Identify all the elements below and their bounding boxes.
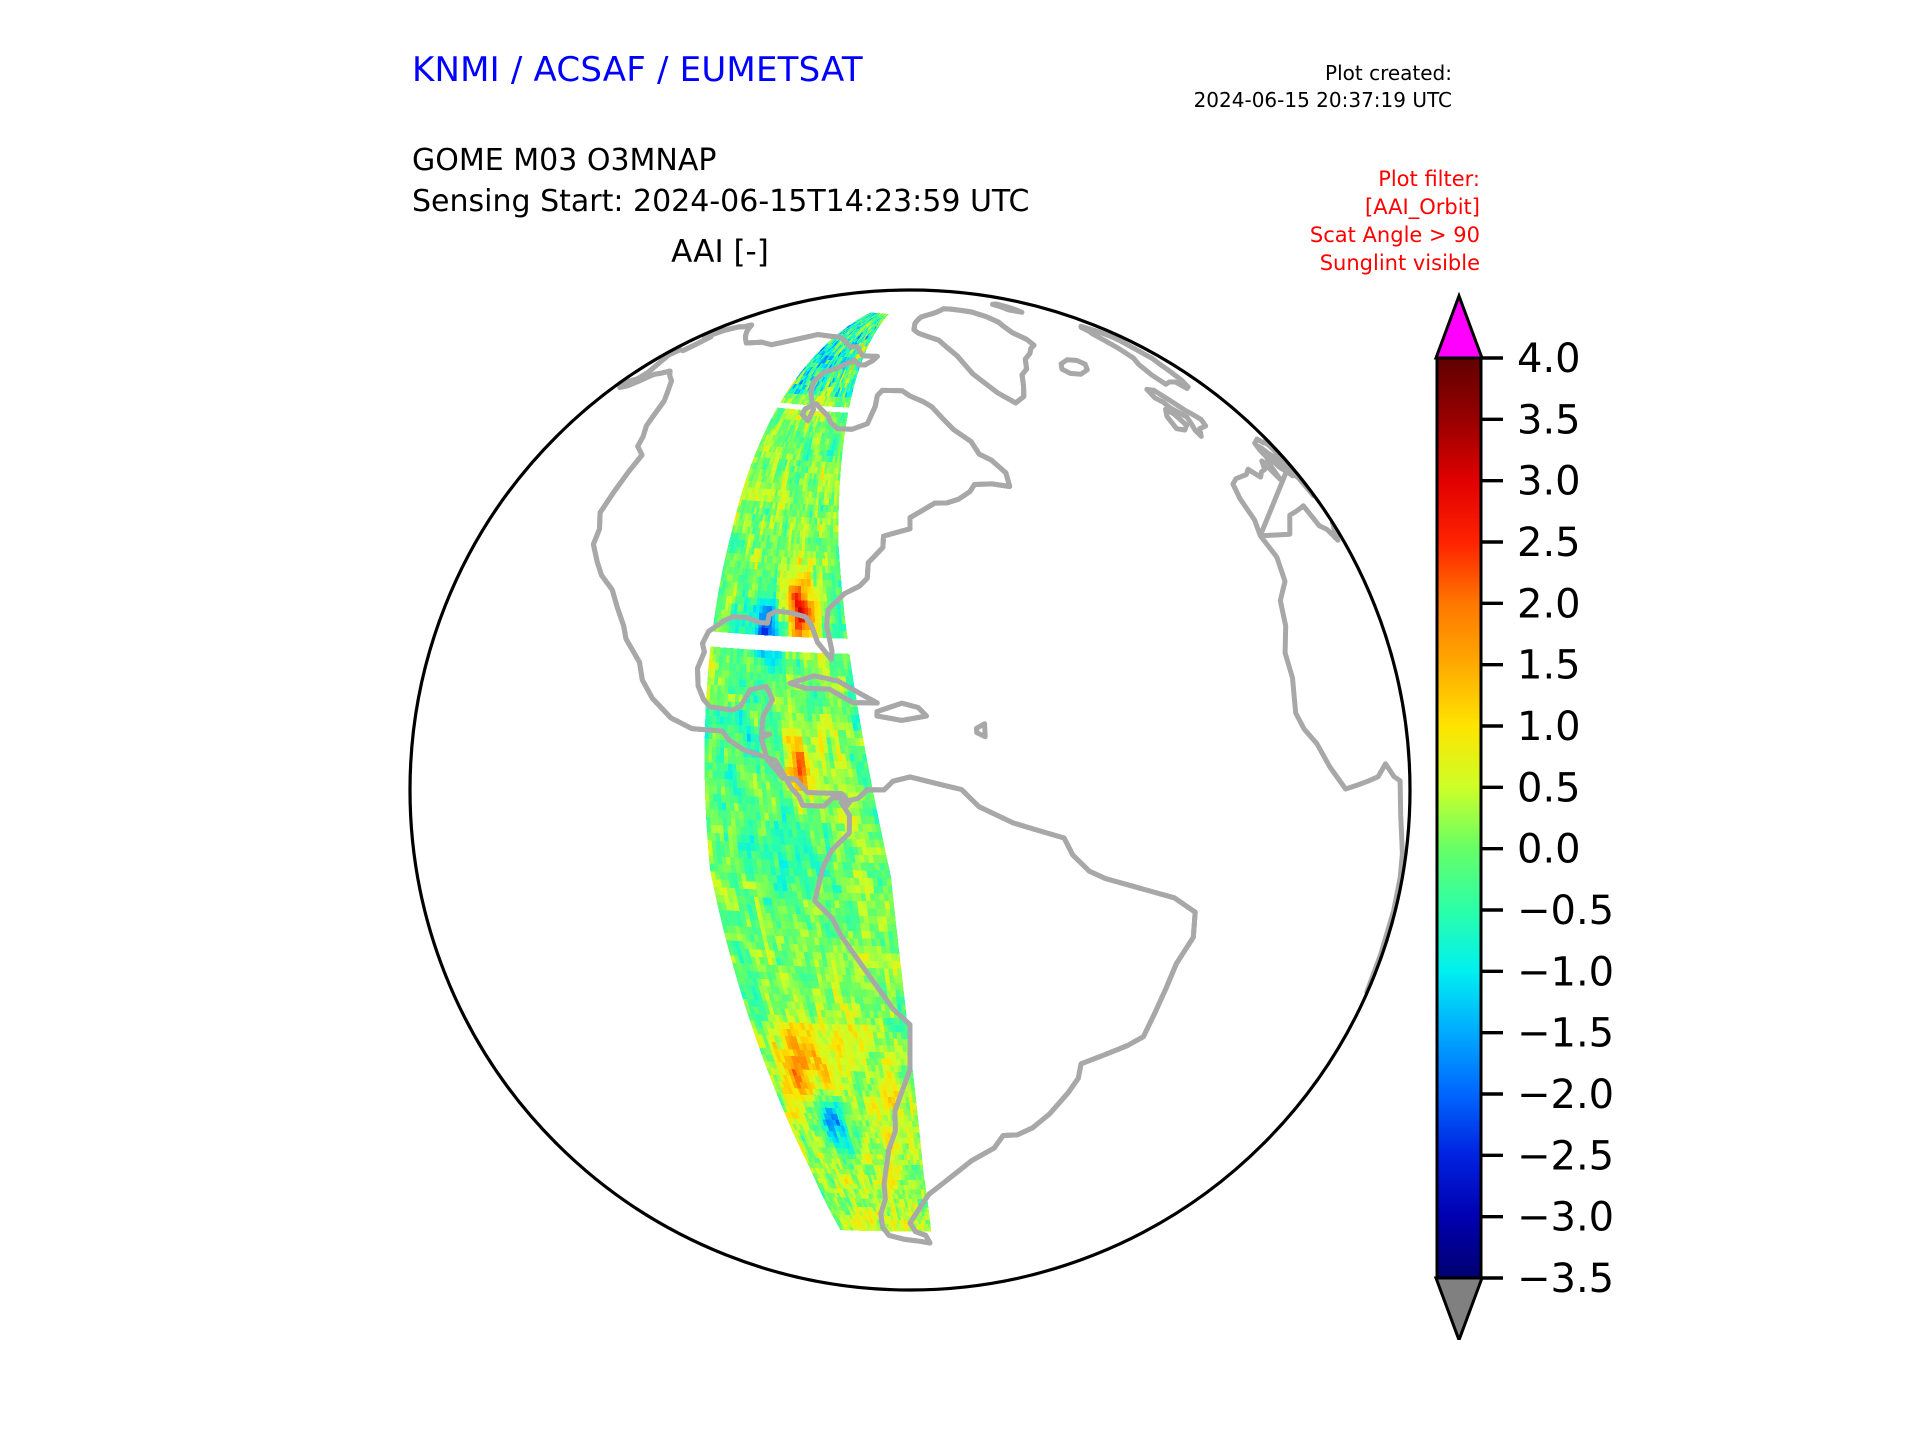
swath-pixel: [729, 779, 734, 787]
swath-pixel: [705, 801, 710, 809]
swath-pixel: [830, 538, 833, 545]
swath-pixel: [757, 828, 762, 836]
swath-pixel: [746, 710, 750, 718]
swath-pixel: [738, 626, 742, 634]
swath-pixel: [764, 666, 768, 674]
swath-pixel: [712, 654, 716, 662]
swath-pixel: [768, 673, 772, 681]
swath-pixel: [738, 803, 743, 811]
swath-pixel: [804, 713, 809, 721]
swath-pixel: [715, 825, 720, 833]
swath-pixel: [805, 721, 810, 729]
swath-pixel: [791, 744, 796, 752]
swath-pixel: [873, 886, 879, 894]
swath-pixel: [750, 789, 755, 797]
swath-pixel: [819, 631, 823, 639]
swath-pixel: [835, 573, 839, 580]
swath-pixel: [789, 721, 794, 729]
swath-pixel: [762, 613, 766, 621]
swath-pixel: [817, 525, 820, 532]
swath-pixel: [826, 505, 829, 512]
swath-pixel: [893, 932, 898, 939]
swath-pixel: [774, 735, 779, 743]
swath-pixel: [750, 657, 754, 665]
swath-pixel: [735, 819, 740, 827]
swath-pixel: [770, 584, 774, 591]
swath-pixel: [720, 755, 724, 763]
swath-pixel: [707, 832, 712, 840]
swath-pixel: [717, 849, 722, 857]
swath-pixel: [706, 692, 710, 700]
swath-pixel: [778, 728, 783, 736]
swath-pixel: [753, 781, 758, 789]
swath-pixel: [786, 728, 791, 736]
swath-pixel: [832, 580, 836, 587]
swath-pixel: [742, 843, 747, 851]
swath-pixel: [778, 629, 781, 637]
swath-pixel: [772, 621, 776, 629]
swath-pixel: [822, 531, 825, 538]
swath-pixel: [751, 812, 756, 820]
swath-pixel: [776, 697, 780, 705]
swath-pixel: [778, 564, 782, 571]
swath-pixel: [721, 849, 726, 857]
swath-pixel: [726, 663, 730, 671]
swath-pixel: [831, 499, 834, 506]
swath-pixel: [737, 842, 742, 850]
swath-pixel: [732, 671, 736, 679]
swath-pixel: [721, 794, 726, 802]
swath-pixel: [718, 818, 723, 826]
swath-pixel: [875, 901, 881, 909]
swath-pixel: [798, 558, 801, 565]
swath-pixel: [810, 653, 814, 661]
swath-pixel: [770, 782, 775, 790]
swath-pixel: [819, 545, 822, 552]
swath-pixel: [798, 572, 801, 579]
swath-pixel: [761, 673, 765, 681]
swath-pixel: [735, 687, 739, 695]
swath-pixel: [822, 538, 825, 545]
swath-pixel: [833, 525, 836, 532]
swath-pixel: [743, 710, 747, 718]
swath-pixel: [724, 763, 728, 771]
swath-pixel: [869, 886, 875, 894]
swath-pixel: [798, 593, 801, 600]
swath-pixel: [807, 706, 812, 714]
swath-pixel: [740, 772, 745, 780]
swath-pixel: [750, 726, 754, 734]
swath-pixel: [755, 734, 759, 742]
swath-pixel: [802, 630, 806, 638]
swath-pixel: [807, 660, 811, 668]
swath-pixel: [880, 901, 885, 909]
swath-pixel: [830, 545, 833, 552]
swath-pixel: [744, 773, 749, 781]
swath-pixel: [709, 801, 714, 809]
swath-pixel: [813, 691, 818, 699]
swath-pixel: [902, 1046, 907, 1053]
swath-pixel: [789, 578, 792, 585]
swath-pixel: [740, 649, 744, 657]
swath-pixel: [783, 751, 788, 759]
swath-pixel: [807, 572, 810, 579]
swath-pixel: [779, 790, 784, 798]
swath-pixel: [772, 628, 776, 636]
swath-pixel: [728, 725, 732, 733]
swath-pixel: [752, 757, 756, 765]
swath-pixel: [724, 771, 728, 779]
swath-pixel: [833, 474, 836, 480]
swath-pixel: [766, 789, 771, 797]
swath-pixel: [739, 733, 743, 741]
swath-pixel: [823, 587, 827, 594]
swath-pixel: [768, 651, 772, 659]
swath-pixel: [774, 570, 778, 577]
swath-pixel: [716, 647, 720, 655]
swath-pixel: [746, 672, 750, 680]
swath-pixel: [747, 742, 751, 750]
swath-pixel: [803, 660, 807, 668]
swath-pixel: [825, 573, 828, 580]
swath-pixel: [765, 577, 769, 584]
swath-pixel: [889, 976, 894, 983]
swath-pixel: [833, 539, 836, 546]
swath-pixel: [811, 524, 814, 531]
swath-pixel: [785, 592, 788, 599]
swath-pixel: [757, 703, 761, 711]
swath-pixel: [813, 545, 816, 552]
swath-pixel: [747, 804, 752, 812]
swath-pixel: [776, 689, 780, 697]
swath-pixel: [801, 558, 804, 565]
swath-pixel: [782, 666, 786, 674]
swath-pixel: [774, 728, 778, 736]
swath-pixel: [743, 679, 747, 687]
swath-pixel: [829, 580, 833, 587]
swath-pixel: [827, 545, 830, 552]
swath-pixel: [816, 580, 819, 587]
swath-pixel: [791, 690, 795, 698]
swath-pixel: [787, 697, 791, 705]
swath-pixel: [822, 525, 825, 532]
swath-pixel: [804, 572, 807, 579]
swath-pixel: [743, 734, 747, 742]
swath-pixel: [742, 796, 747, 804]
swath-pixel: [788, 713, 792, 721]
swath-pixel: [769, 712, 773, 720]
swath-pixel: [729, 849, 734, 857]
swath-pixel: [885, 946, 890, 953]
swath-pixel: [891, 954, 896, 961]
swath-pixel: [736, 671, 740, 679]
swath-pixel: [819, 525, 822, 532]
swath-pixel: [716, 771, 720, 779]
swath-pixel: [877, 878, 883, 886]
swath-pixel: [777, 578, 780, 585]
swath-pixel: [803, 652, 807, 660]
swath-pixel: [778, 614, 781, 622]
swath-pixel: [825, 532, 828, 539]
swath-pixel: [767, 836, 772, 844]
plot-created-value: 2024-06-15 20:37:19 UTC: [1032, 87, 1452, 114]
swath-pixel: [810, 572, 813, 579]
swath-pixel: [817, 518, 820, 525]
swath-pixel: [779, 592, 782, 599]
swath-pixel: [879, 894, 884, 902]
swath-pixel: [799, 551, 802, 558]
swath-pixel: [756, 820, 761, 828]
swath-pixel: [705, 715, 709, 723]
swath-pixel: [781, 712, 785, 720]
swath-pixel: [754, 665, 758, 673]
swath-pixel: [808, 601, 812, 609]
swath-pixel: [723, 818, 728, 826]
swath-pixel: [885, 909, 891, 917]
swath-pixel: [806, 698, 811, 706]
swath-pixel: [773, 592, 777, 599]
swath-pixel: [714, 685, 718, 693]
swath-pixel: [754, 703, 758, 711]
globe-map: [380, 260, 1440, 1320]
swath-pixel: [755, 627, 759, 635]
swath-pixel: [896, 961, 901, 968]
swath-pixel: [789, 659, 793, 667]
swath-pixel: [817, 594, 821, 601]
swath-pixel: [706, 817, 711, 825]
swath-pixel: [886, 954, 891, 961]
swath-pixel: [770, 592, 774, 599]
swath-pixel: [764, 584, 768, 591]
swath-pixel: [708, 747, 712, 755]
swath-pixel: [728, 764, 732, 772]
swath-pixel: [799, 544, 802, 551]
swath-pixel: [766, 599, 770, 606]
swath-pixel: [779, 674, 783, 682]
swath-pixel: [725, 787, 730, 795]
swath-pixel: [786, 578, 789, 585]
swath-pixel: [712, 662, 716, 670]
swath-pixel: [775, 614, 778, 622]
swath-pixel: [783, 744, 788, 752]
swath-pixel: [807, 586, 810, 593]
swath-pixel: [725, 678, 729, 686]
swath-pixel: [748, 820, 753, 828]
swath-pixel: [764, 766, 769, 774]
swath-pixel: [892, 961, 897, 968]
swath-pixel: [808, 668, 812, 676]
swath-pixel: [709, 794, 713, 802]
swath-pixel: [714, 817, 719, 825]
swath-pixel: [767, 797, 772, 805]
swath-pixel: [744, 765, 749, 773]
swath-pixel: [728, 717, 732, 725]
swath-pixel: [711, 825, 716, 833]
swath-pixel: [789, 728, 794, 736]
swath-pixel: [716, 655, 720, 663]
swath-pixel: [724, 841, 729, 849]
swath-pixel: [715, 662, 719, 670]
swath-pixel: [793, 557, 796, 564]
swath-pixel: [753, 773, 758, 781]
swath-pixel: [752, 765, 757, 773]
swath-pixel: [780, 697, 784, 705]
swath-pixel: [792, 578, 795, 585]
swath-pixel: [796, 558, 799, 565]
swath-pixel: [837, 566, 841, 573]
swath-pixel: [782, 674, 786, 682]
swath-pixel: [750, 711, 754, 719]
swath-pixel: [750, 695, 754, 703]
swath-pixel: [747, 649, 751, 657]
swath-pixel: [739, 679, 743, 687]
swath-pixel: [797, 721, 802, 729]
swath-pixel: [810, 544, 813, 551]
swath-pixel: [750, 796, 755, 804]
swath-pixel: [806, 524, 809, 531]
swath-pixel: [795, 744, 800, 752]
swath-pixel: [755, 851, 760, 859]
swath-pixel: [767, 584, 771, 591]
swath-pixel: [836, 545, 839, 552]
swath-pixel: [833, 512, 836, 519]
sensing-start: Sensing Start: 2024-06-15T14:23:59 UTC: [412, 181, 1029, 222]
swath-pixel: [741, 835, 746, 843]
swath-pixel: [795, 630, 799, 638]
swath-pixel: [717, 794, 721, 802]
swath-pixel: [831, 512, 834, 519]
swath-pixel: [740, 765, 744, 773]
swath-pixel: [720, 748, 724, 756]
swath-pixel: [739, 811, 744, 819]
swath-pixel: [834, 559, 837, 566]
swath-pixel: [817, 601, 821, 608]
swath-pixel: [744, 827, 749, 835]
swath-pixel: [709, 786, 713, 794]
swath-pixel: [761, 820, 766, 828]
swath-pixel: [727, 826, 732, 834]
swath-pixel: [889, 901, 895, 909]
swath-pixel: [813, 531, 816, 538]
swath-pixel: [790, 550, 793, 557]
swath-pixel: [760, 813, 765, 821]
swath-pixel: [724, 717, 728, 725]
swath-pixel: [773, 720, 777, 728]
swath-pixel: [788, 759, 793, 767]
swath-pixel: [731, 819, 736, 827]
swath-pixel: [822, 573, 825, 580]
swath-pixel: [772, 674, 776, 682]
swath-pixel: [756, 765, 761, 773]
swath-pixel: [771, 570, 775, 577]
swath-pixel: [795, 622, 799, 630]
swath-pixel: [725, 795, 730, 803]
swath-pixel: [890, 946, 895, 953]
swath-pixel: [745, 788, 750, 796]
swath-pixel: [831, 573, 835, 580]
swath-pixel: [810, 551, 813, 558]
swath-pixel: [831, 505, 834, 512]
swath-pixel: [828, 505, 831, 512]
swath-pixel: [713, 778, 717, 786]
swath-pixel: [810, 586, 813, 593]
swath-pixel: [723, 826, 728, 834]
swath-pixel: [792, 760, 797, 768]
swath-pixel: [876, 909, 882, 917]
swath-pixel: [837, 493, 840, 499]
swath-pixel: [743, 812, 748, 820]
swath-pixel: [759, 805, 764, 813]
swath-pixel: [804, 667, 808, 675]
plot-created-block: Plot created: 2024-06-15 20:37:19 UTC: [1032, 60, 1452, 114]
swath-pixel: [711, 677, 715, 685]
swath-pixel: [815, 505, 818, 512]
swath-pixel: [825, 512, 828, 519]
swath-pixel: [773, 704, 777, 712]
swath-pixel: [783, 571, 786, 578]
swath-pixel: [808, 531, 811, 538]
swath-pixel: [771, 577, 775, 584]
swath-pixel: [705, 785, 709, 793]
swath-pixel: [792, 713, 797, 721]
swath-pixel: [787, 752, 792, 760]
swath-pixel: [882, 878, 888, 886]
swath-pixel: [744, 819, 749, 827]
product-name: GOME M03 O3MNAP: [412, 140, 1029, 181]
swath-pixel: [810, 558, 813, 565]
swath-pixel: [750, 703, 754, 711]
swath-pixel: [822, 566, 825, 573]
swath-pixel: [743, 657, 747, 665]
swath-pixel: [830, 525, 833, 532]
swath-pixel: [893, 939, 898, 947]
swath-pixel: [735, 717, 739, 725]
swath-pixel: [784, 697, 788, 705]
swath-pixel: [740, 664, 744, 672]
swath-pixel: [744, 757, 748, 765]
swath-pixel: [746, 680, 750, 688]
swath-pixel: [761, 658, 765, 666]
swath-pixel: [751, 734, 755, 742]
swath-pixel: [782, 585, 785, 592]
swath-pixel: [714, 802, 719, 810]
swath-pixel: [713, 856, 718, 864]
swath-pixel: [717, 779, 721, 787]
swath-pixel: [795, 600, 798, 608]
swath-pixel: [713, 794, 717, 802]
swath-pixel: [761, 781, 766, 789]
swath-pixel: [825, 518, 828, 525]
swath-pixel: [891, 916, 896, 924]
swath-pixel: [816, 552, 819, 559]
swath-pixel: [814, 653, 818, 661]
swath-pixel: [739, 718, 743, 726]
swath-pixel: [745, 780, 750, 788]
swath-pixel: [772, 805, 777, 813]
swath-pixel: [722, 670, 726, 678]
swath-pixel: [753, 828, 758, 836]
swath-pixel: [820, 587, 824, 594]
swath-pixel: [782, 550, 785, 557]
swath-pixel: [814, 608, 818, 615]
swath-pixel: [829, 587, 833, 594]
swath-pixel: [778, 621, 781, 629]
swath-pixel: [747, 812, 752, 820]
swath-pixel: [745, 835, 750, 843]
swath-pixel: [882, 916, 887, 924]
swath-pixel: [786, 667, 790, 675]
swath-pixel: [763, 598, 767, 605]
